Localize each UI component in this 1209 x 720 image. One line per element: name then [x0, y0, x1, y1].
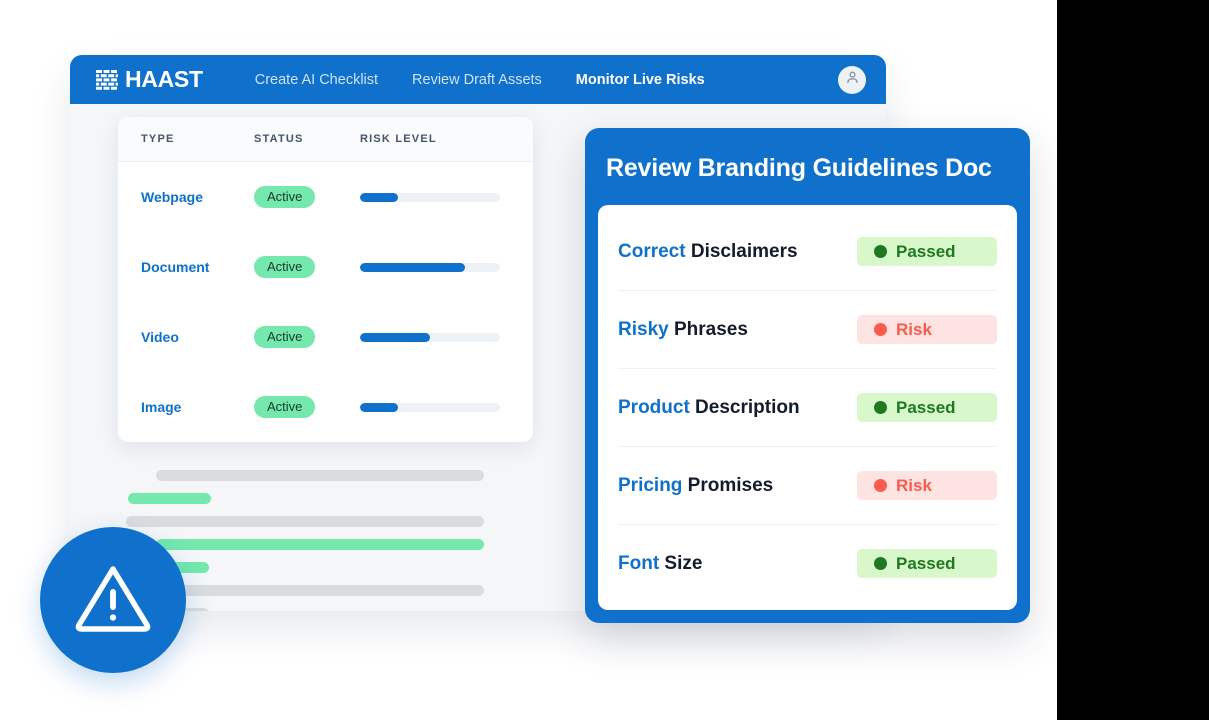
table-row[interactable]: Video Active	[118, 302, 533, 372]
risk-level-cell	[360, 333, 520, 342]
status-cell: Active	[254, 396, 360, 418]
checklist-item-rest: Phrases	[669, 319, 748, 340]
asset-type-label: Document	[118, 259, 254, 275]
risk-bar-track	[360, 193, 500, 202]
risk-bar-track	[360, 403, 500, 412]
review-panel-title: Review Branding Guidelines Doc	[598, 154, 1017, 205]
risk-bar-track	[360, 333, 500, 342]
placeholder-line	[128, 493, 211, 504]
checklist-row[interactable]: Font Size Passed	[618, 525, 997, 602]
checklist-status-label: Passed	[896, 554, 956, 574]
stage: HAAST Create AI Checklist Review Draft A…	[0, 0, 1057, 720]
avatar[interactable]	[838, 66, 866, 94]
placeholder-content	[118, 470, 568, 611]
nav-item-create-ai-checklist[interactable]: Create AI Checklist	[255, 72, 378, 88]
status-badge: Active	[254, 256, 315, 278]
placeholder-line	[156, 585, 484, 596]
user-avatar-icon	[844, 69, 861, 91]
checklist-item-keyword: Correct	[618, 241, 686, 262]
nav-item-monitor-live-risks[interactable]: Monitor Live Risks	[576, 72, 705, 88]
warning-badge	[40, 527, 186, 673]
table-body: Webpage Active Document Active	[118, 162, 533, 442]
checklist-row[interactable]: Pricing Promises Risk	[618, 447, 997, 525]
table-row[interactable]: Document Active	[118, 232, 533, 302]
checklist-item-label: Correct Disclaimers	[618, 241, 798, 263]
column-header-risk-level: RISK LEVEL	[360, 133, 520, 145]
status-dot-icon	[874, 479, 887, 492]
risk-level-cell	[360, 403, 520, 412]
risk-bar-fill	[360, 403, 398, 412]
checklist-item-label: Font Size	[618, 553, 702, 575]
risk-level-cell	[360, 263, 520, 272]
table-row[interactable]: Image Active	[118, 372, 533, 442]
main-navigation: Create AI Checklist Review Draft Assets …	[255, 72, 705, 88]
risk-bar-track	[360, 263, 500, 272]
risk-bar-fill	[360, 193, 398, 202]
status-dot-icon	[874, 557, 887, 570]
asset-type-label: Image	[118, 399, 254, 415]
checklist-item-label: Pricing Promises	[618, 475, 773, 497]
status-badge: Active	[254, 326, 315, 348]
checklist-item-keyword: Font	[618, 553, 659, 574]
table-header-row: TYPE STATUS RISK LEVEL	[118, 117, 533, 162]
checklist-status-badge: Passed	[857, 237, 997, 266]
placeholder-line	[156, 539, 484, 550]
checklist-item-label: Risky Phrases	[618, 319, 748, 341]
checklist-card: Correct Disclaimers Passed Risky Phrases…	[598, 205, 1017, 610]
status-dot-icon	[874, 401, 887, 414]
status-cell: Active	[254, 186, 360, 208]
brand-logo[interactable]: HAAST	[96, 68, 203, 91]
table-row[interactable]: Webpage Active	[118, 162, 533, 232]
checklist-status-label: Passed	[896, 398, 956, 418]
app-top-navigation-bar: HAAST Create AI Checklist Review Draft A…	[70, 55, 886, 104]
brick-grid-logo-icon	[96, 70, 118, 90]
checklist-item-keyword: Risky	[618, 319, 669, 340]
status-badge: Active	[254, 186, 315, 208]
column-header-type: TYPE	[118, 133, 254, 145]
checklist-item-keyword: Product	[618, 397, 690, 418]
checklist-item-keyword: Pricing	[618, 475, 682, 496]
checklist-item-rest: Promises	[682, 475, 773, 496]
checklist-item-label: Product Description	[618, 397, 800, 419]
warning-triangle-icon	[74, 562, 152, 639]
checklist-row[interactable]: Correct Disclaimers Passed	[618, 213, 997, 291]
checklist-status-label: Risk	[896, 476, 932, 496]
letterbox-right	[1057, 0, 1209, 720]
checklist-row[interactable]: Product Description Passed	[618, 369, 997, 447]
status-dot-icon	[874, 323, 887, 336]
status-cell: Active	[254, 256, 360, 278]
checklist-item-rest: Size	[659, 553, 702, 574]
risk-bar-fill	[360, 263, 465, 272]
checklist-status-badge: Passed	[857, 393, 997, 422]
column-header-status: STATUS	[254, 133, 360, 145]
asset-risk-table: TYPE STATUS RISK LEVEL Webpage Active	[118, 117, 533, 442]
brand-name: HAAST	[125, 68, 203, 91]
checklist-status-badge: Passed	[857, 549, 997, 578]
review-panel: Review Branding Guidelines Doc Correct D…	[585, 128, 1030, 623]
placeholder-line	[156, 470, 484, 481]
asset-type-label: Webpage	[118, 189, 254, 205]
checklist-status-label: Passed	[896, 242, 956, 262]
checklist-item-rest: Disclaimers	[686, 241, 798, 262]
checklist-item-rest: Description	[690, 397, 800, 418]
asset-type-label: Video	[118, 329, 254, 345]
status-badge: Active	[254, 396, 315, 418]
risk-bar-fill	[360, 333, 430, 342]
status-cell: Active	[254, 326, 360, 348]
risk-level-cell	[360, 193, 520, 202]
checklist-status-label: Risk	[896, 320, 932, 340]
status-dot-icon	[874, 245, 887, 258]
checklist-status-badge: Risk	[857, 471, 997, 500]
checklist-status-badge: Risk	[857, 315, 997, 344]
placeholder-line	[126, 516, 484, 527]
nav-item-review-draft-assets[interactable]: Review Draft Assets	[412, 72, 542, 88]
checklist-row[interactable]: Risky Phrases Risk	[618, 291, 997, 369]
